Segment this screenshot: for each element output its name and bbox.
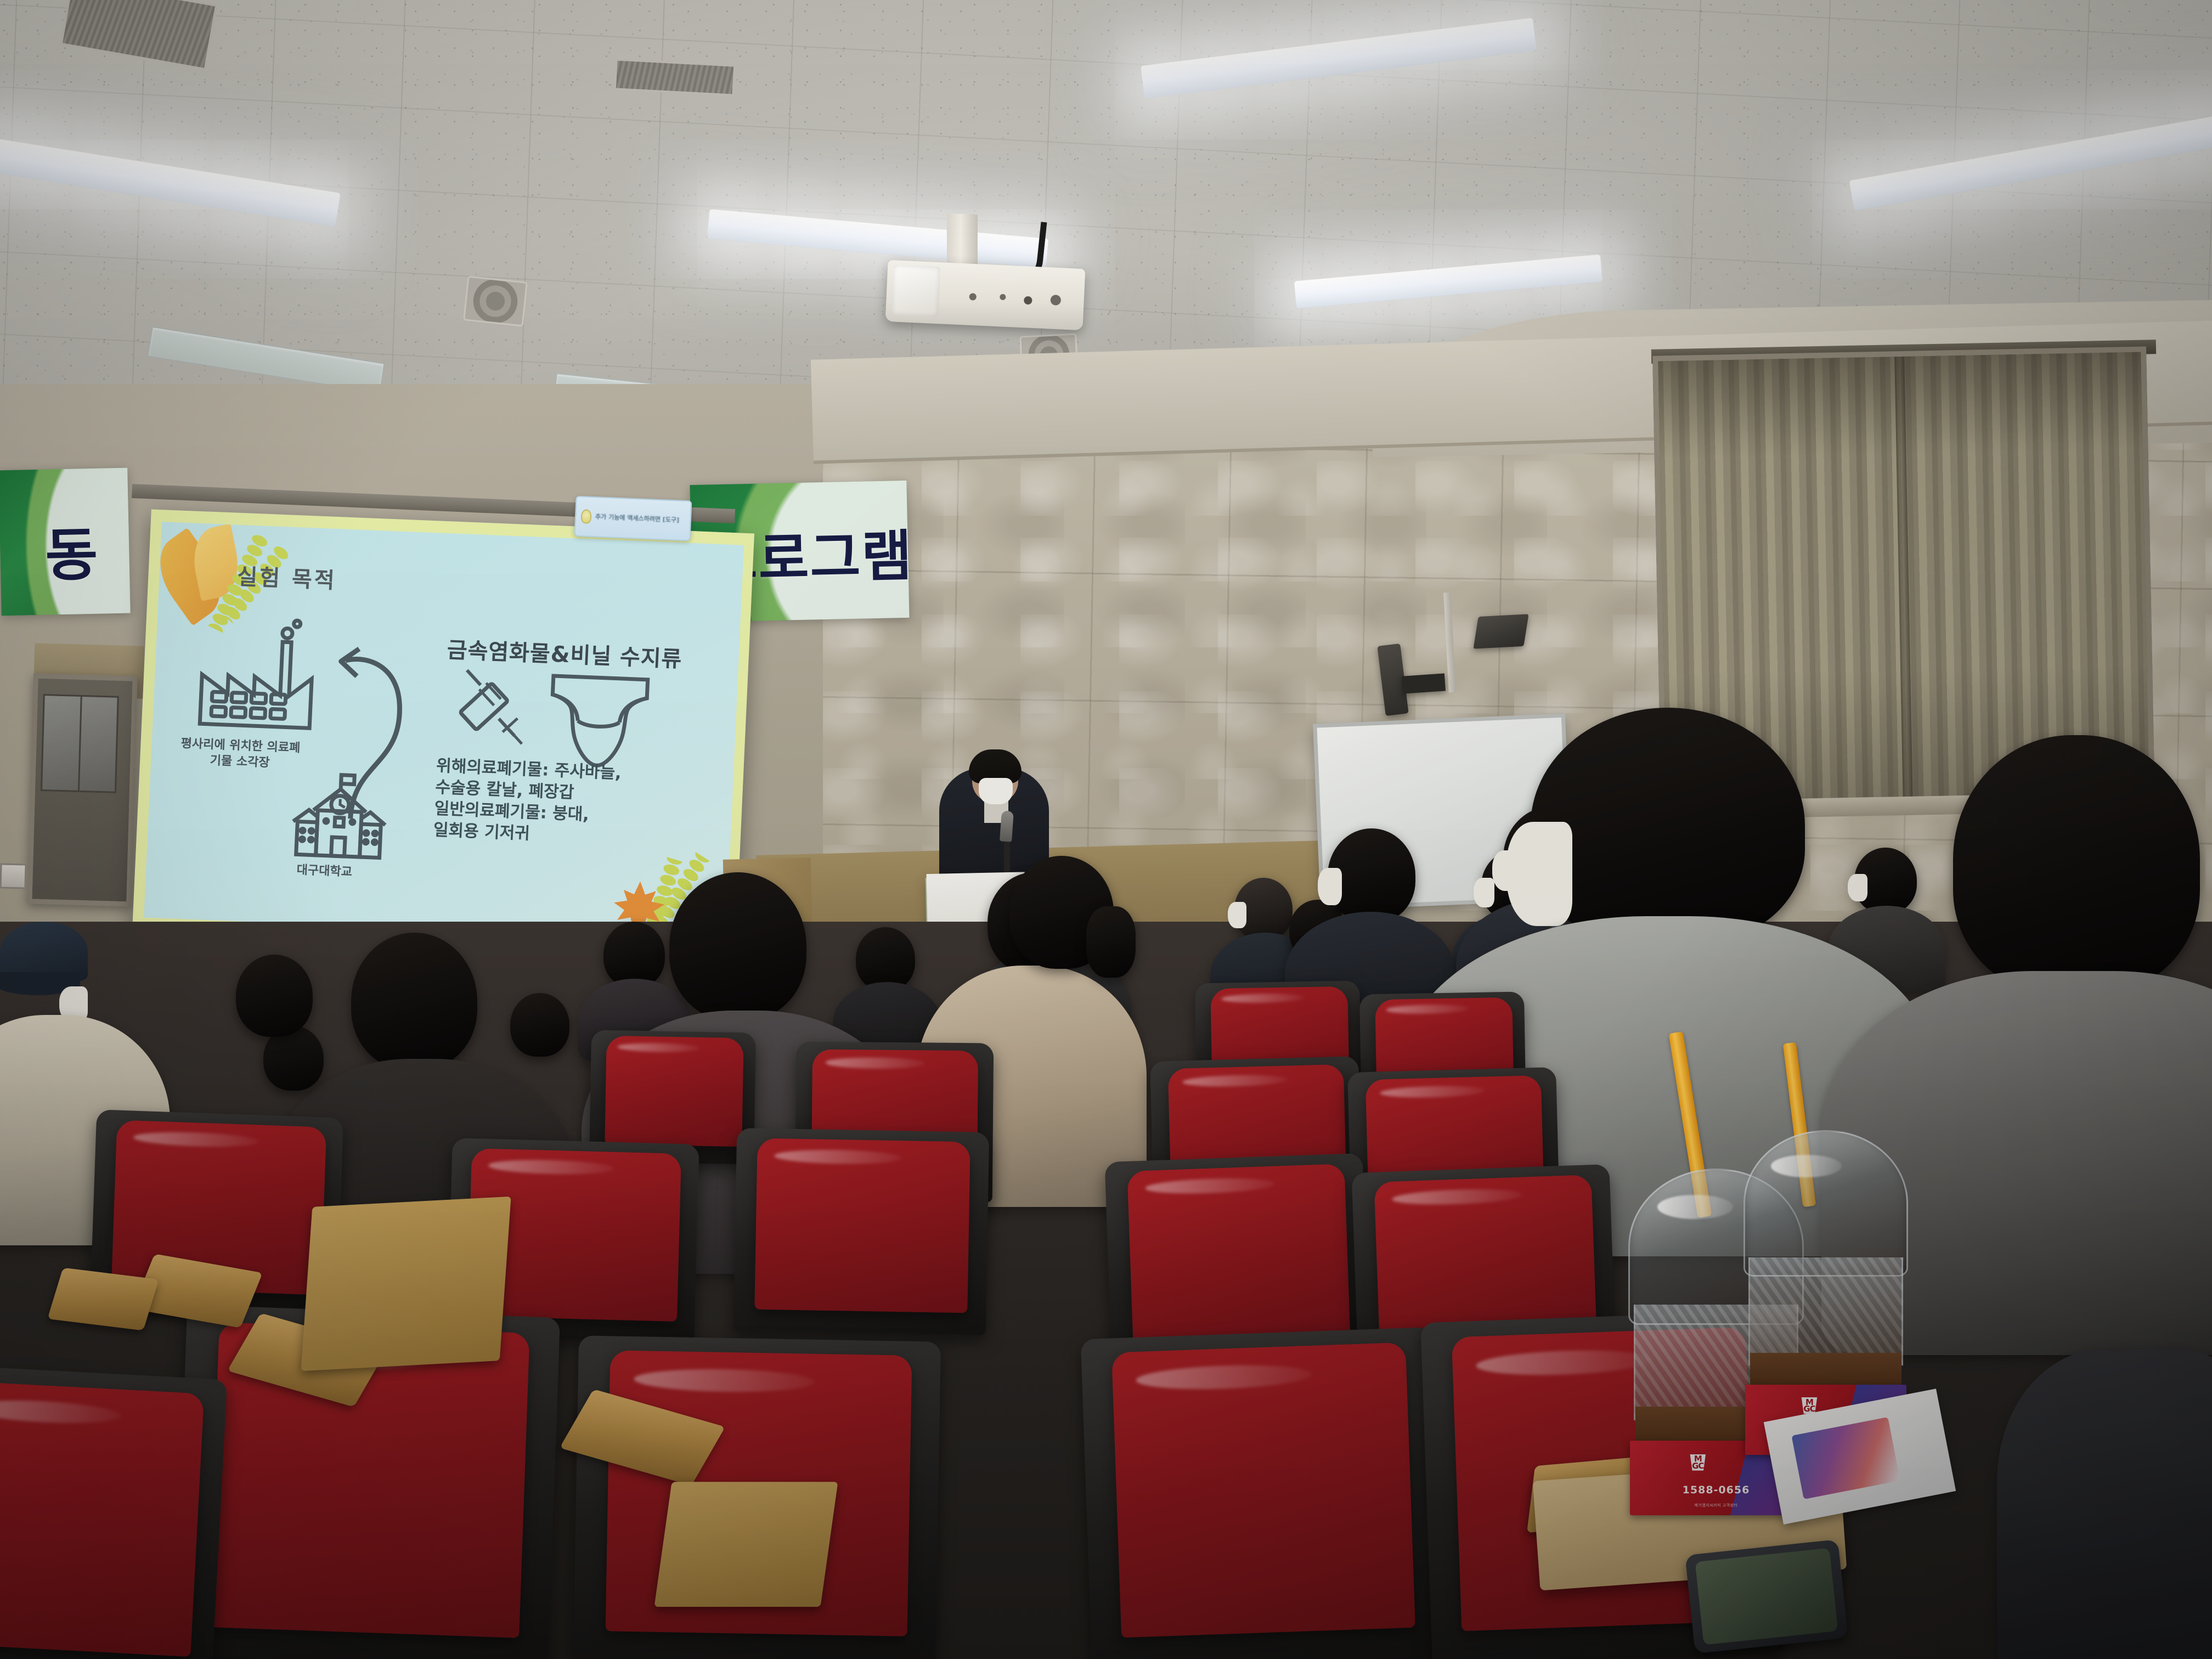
seat[interactable] — [605, 1036, 743, 1147]
lightbulb-icon — [581, 509, 592, 524]
seat[interactable] — [1127, 1164, 1351, 1347]
syringe-icon — [452, 664, 528, 760]
slide-body-text: 위해의료폐기물: 주사바늘, 수술용 칼날, 폐장갑 일반의료폐기물: 붕대, … — [433, 755, 622, 848]
head — [1953, 735, 2200, 993]
head — [603, 922, 665, 988]
seat-highlight — [1386, 1005, 1469, 1014]
face-mask-icon — [1228, 902, 1246, 928]
notice-case-glass — [41, 694, 119, 793]
handout-graphic — [1791, 1417, 1900, 1499]
ceiling-speaker-grille — [463, 275, 528, 326]
head — [510, 993, 569, 1057]
ponytail — [1086, 906, 1136, 978]
seat[interactable] — [0, 1380, 204, 1657]
seat-highlight — [826, 1057, 925, 1069]
seat-highlight — [1222, 994, 1304, 1003]
slide-content-area: 실험 목적 금속염화물&비닐 수지류 — [144, 522, 744, 941]
seat-highlight — [1392, 1188, 1522, 1206]
cup-fine-print: 메가엠지씨커피 고객센터 — [1630, 1503, 1802, 1508]
microphone-stem — [1004, 838, 1010, 876]
powerpoint-notification-toast[interactable]: 추가 기능에 액세스하려면 [도구] — [574, 496, 692, 541]
head — [236, 955, 313, 1037]
seat[interactable] — [1111, 1342, 1415, 1638]
diaper-icon — [541, 667, 656, 775]
wall-speaker — [1473, 614, 1528, 648]
presentation-slide: 실험 목적 금속염화물&비닐 수지류 — [132, 509, 754, 955]
notice-display-case[interactable] — [27, 673, 138, 906]
smartphone[interactable] — [1685, 1539, 1848, 1654]
head — [669, 872, 806, 1020]
seat-highlight — [0, 1397, 121, 1426]
face-mask-icon — [979, 778, 1013, 804]
head — [856, 927, 915, 991]
slide-caption-incinerator: 평사리에 위치한 의료폐기물 소각장 — [179, 736, 301, 772]
seat-highlight — [1380, 1085, 1485, 1099]
seat-highlight — [774, 1149, 902, 1165]
projector — [885, 260, 1086, 330]
mega-coffee-logo-icon: M GC — [1800, 1397, 1819, 1414]
cup-ice — [1748, 1257, 1903, 1365]
face-mask-icon — [1506, 822, 1572, 926]
projector-ports — [956, 285, 1073, 312]
banner-left-text: 동 — [44, 508, 100, 592]
folding-tablet-desk[interactable] — [301, 1197, 511, 1371]
seat-highlight — [617, 1042, 699, 1052]
seat-highlight — [1136, 1363, 1313, 1392]
seat-highlight — [133, 1131, 259, 1148]
shoulders — [1997, 1350, 2212, 1659]
phone-screen[interactable] — [1695, 1548, 1838, 1645]
seat[interactable] — [754, 1138, 970, 1313]
cup-logo-text: M GC — [1689, 1455, 1707, 1469]
face-mask-icon — [1318, 868, 1342, 905]
toast-text-line1: 추가 기능에 액세스하려면 [도구] — [595, 513, 680, 524]
seat-highlight — [1476, 1348, 1653, 1378]
projection-screen: 실험 목적 금속염화물&비닐 수지류 — [132, 509, 754, 955]
projector-lens — [891, 264, 940, 317]
microphone-icon — [1000, 810, 1014, 842]
ceiling-air-vent — [614, 58, 736, 96]
cup-dome-lid — [1743, 1130, 1908, 1277]
seat-highlight — [634, 1368, 815, 1393]
folding-tablet-desk[interactable] — [654, 1482, 838, 1607]
wall-light-switch[interactable] — [0, 863, 27, 889]
wall-banner-left: 동 — [0, 468, 131, 616]
wall-speaker-bracket — [1402, 673, 1446, 693]
head — [351, 933, 477, 1070]
face-mask-icon — [1848, 874, 1867, 901]
seat-highlight — [488, 1159, 614, 1175]
cup-lid-highlight — [1771, 1155, 1842, 1178]
seat-highlight — [1145, 1177, 1276, 1195]
face-mask-icon — [1474, 878, 1494, 907]
slide-caption-university: 대구대학교 — [278, 861, 371, 881]
head — [1531, 708, 1805, 944]
cup-lid-highlight — [1657, 1195, 1733, 1220]
seat-highlight — [1182, 1074, 1288, 1088]
cup-logo-text: M GC — [1800, 1399, 1819, 1413]
lecture-hall-scene: 동 프로그램 실험 목적 금속염화물&비닐 수지류 — [0, 0, 2212, 1659]
projector-mount — [947, 213, 978, 270]
school-building-icon — [288, 769, 391, 871]
mega-coffee-logo-icon: M GC — [1689, 1454, 1707, 1471]
slide-title: 실험 목적 — [236, 559, 337, 595]
